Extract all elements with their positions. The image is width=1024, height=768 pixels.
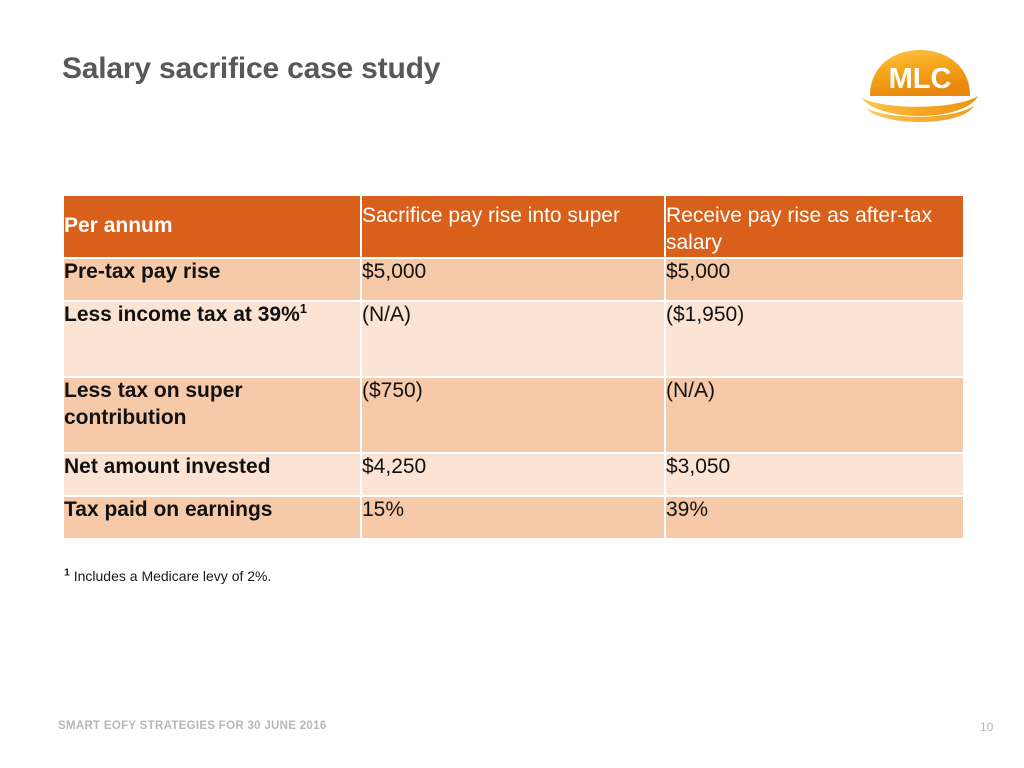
cell-after-tax: ($1,950)	[666, 302, 963, 376]
table-row: Less income tax at 39%1(N/A)($1,950)	[64, 302, 963, 376]
row-label: Less income tax at 39%1	[64, 302, 360, 376]
mlc-logo: MLC	[856, 42, 984, 122]
cell-after-tax: $5,000	[666, 259, 963, 300]
cell-sacrifice: $4,250	[362, 454, 664, 495]
cell-after-tax: 39%	[666, 497, 963, 538]
cell-after-tax: $3,050	[666, 454, 963, 495]
cell-sacrifice: 15%	[362, 497, 664, 538]
table-body: Pre-tax pay rise$5,000$5,000Less income …	[64, 259, 963, 538]
cell-sacrifice: $5,000	[362, 259, 664, 300]
footnote-reference: 1	[300, 301, 307, 316]
row-label: Tax paid on earnings	[64, 497, 360, 538]
footer-page-number: 10	[980, 720, 993, 734]
column-header-after-tax: Receive pay rise as after-tax salary	[666, 196, 963, 257]
footnote: 1 Includes a Medicare levy of 2%.	[64, 568, 271, 584]
footer-deck-title: Smart EOFY strategies for 30 June 2016	[58, 720, 327, 732]
page-title: Salary sacrifice case study	[62, 52, 440, 86]
case-study-table: Per annum Sacrifice pay rise into super …	[62, 194, 965, 540]
cell-sacrifice: ($750)	[362, 378, 664, 452]
row-label: Less tax on super contribution	[64, 378, 360, 452]
cell-after-tax: (N/A)	[666, 378, 963, 452]
table-row: Pre-tax pay rise$5,000$5,000	[64, 259, 963, 300]
row-label: Net amount invested	[64, 454, 360, 495]
mlc-logo-text: MLC	[889, 63, 952, 95]
column-header-sacrifice: Sacrifice pay rise into super	[362, 196, 664, 257]
table-row: Less tax on super contribution($750)(N/A…	[64, 378, 963, 452]
table-header-row: Per annum Sacrifice pay rise into super …	[64, 196, 963, 257]
table-row: Net amount invested$4,250$3,050	[64, 454, 963, 495]
row-label: Pre-tax pay rise	[64, 259, 360, 300]
column-header-per-annum: Per annum	[64, 196, 360, 257]
cell-sacrifice: (N/A)	[362, 302, 664, 376]
table-row: Tax paid on earnings15%39%	[64, 497, 963, 538]
footnote-text: Includes a Medicare levy of 2%.	[70, 568, 272, 584]
